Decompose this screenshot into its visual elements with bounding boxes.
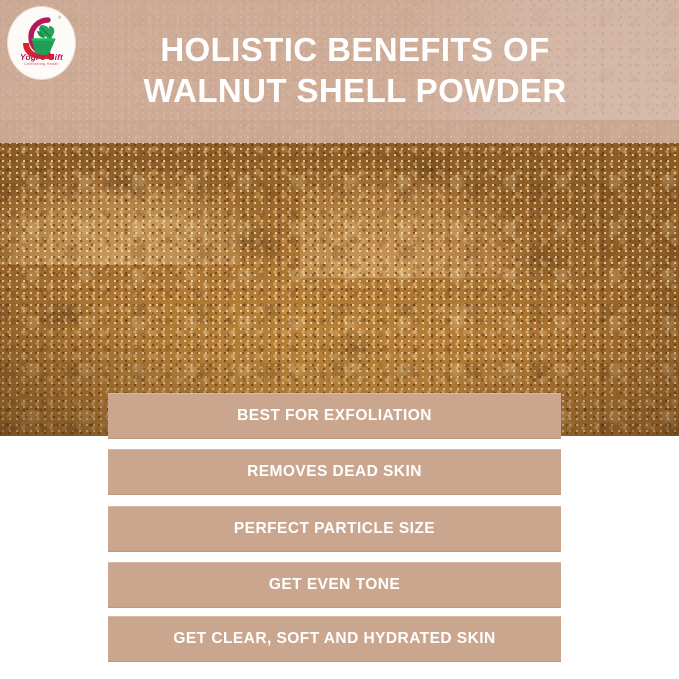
benefit-bar: GET CLEAR, SOFT AND HYDRATED SKIN (108, 616, 561, 662)
benefit-bar: BEST FOR EXFOLIATION (108, 393, 561, 439)
product-infographic: HOLISTIC BENEFITS OF WALNUT SHELL POWDER… (0, 0, 679, 679)
benefit-label: GET CLEAR, SOFT AND HYDRATED SKIN (173, 630, 495, 648)
benefit-label: PERFECT PARTICLE SIZE (234, 520, 435, 538)
benefit-bar: REMOVES DEAD SKIN (108, 449, 561, 495)
benefit-bar: GET EVEN TONE (108, 562, 561, 608)
benefit-label: REMOVES DEAD SKIN (247, 463, 422, 481)
benefits-list: BEST FOR EXFOLIATION REMOVES DEAD SKIN P… (0, 0, 679, 679)
benefit-label: BEST FOR EXFOLIATION (237, 407, 432, 425)
benefit-bar: PERFECT PARTICLE SIZE (108, 506, 561, 552)
benefit-label: GET EVEN TONE (269, 576, 400, 594)
